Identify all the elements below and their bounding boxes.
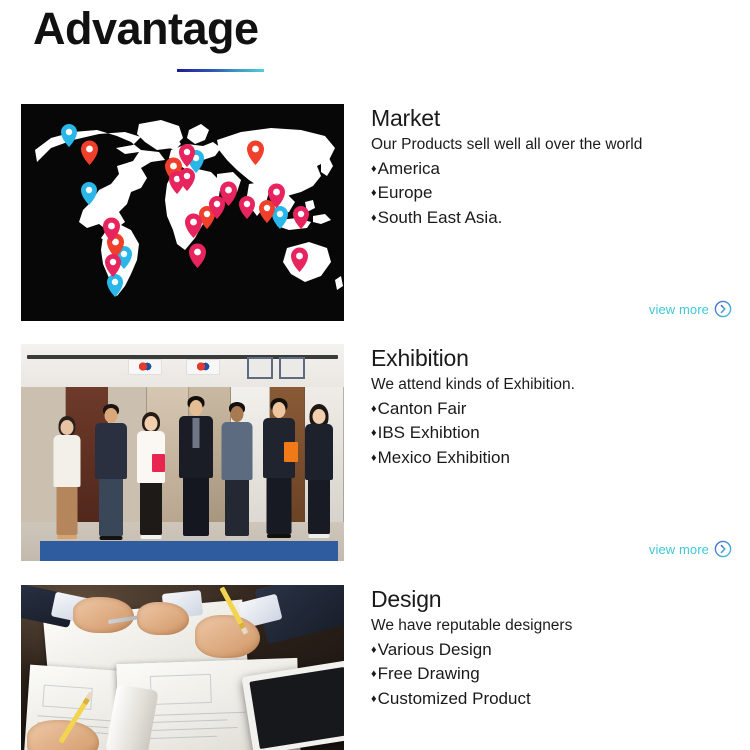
person [92,404,130,544]
list-item-label: America [378,157,440,181]
section-design: Design We have reputable designers ♦ Var… [0,585,750,750]
market-feature-list: ♦ America ♦ Europe ♦ South East Asia. [371,157,743,229]
hand [73,597,134,633]
list-item-label: IBS Exhibtion [378,421,480,445]
list-item: ♦ America [371,157,743,181]
advantage-page: Advantage [0,0,750,750]
diamond-bullet-icon: ♦ [371,694,377,705]
person [302,404,336,544]
person [260,398,298,544]
hand [195,615,260,658]
list-item: ♦ Free Drawing [371,662,743,686]
booth-logo-icon [186,359,220,375]
title-accent-rule [177,69,264,72]
view-more-link-market[interactable]: view more [649,300,732,318]
booth-logo-icon [128,359,162,375]
list-item: ♦ Various Design [371,638,743,662]
exhibition-title: Exhibition [371,344,743,372]
diamond-bullet-icon: ♦ [371,213,377,224]
list-item-label: Canton Fair [378,397,467,421]
booth-frame-display [247,357,273,379]
diamond-bullet-icon: ♦ [371,453,377,464]
person [134,412,168,544]
design-photo-canvas [21,585,344,750]
diamond-bullet-icon: ♦ [371,428,377,439]
view-more-label: view more [649,542,709,557]
list-item-label: Europe [378,181,433,205]
market-text-column: Market Our Products sell well all over t… [371,104,743,230]
list-item-label: South East Asia. [378,206,503,230]
diamond-bullet-icon: ♦ [371,404,377,415]
booth-frame-display [279,357,305,379]
exhibition-subtitle: We attend kinds of Exhibition. [371,373,743,396]
chevron-right-circle-icon [714,300,732,318]
section-exhibition: Exhibition We attend kinds of Exhibition… [0,344,750,582]
person [176,396,216,544]
exhibition-feature-list: ♦ Canton Fair ♦ IBS Exhibtion ♦ Mexico E… [371,397,743,469]
design-text-column: Design We have reputable designers ♦ Var… [371,585,743,711]
design-photo [21,585,344,750]
person [218,402,256,544]
list-item-label: Free Drawing [378,662,480,686]
world-map-canvas [21,104,344,321]
hand [137,602,189,635]
list-item-label: Customized Product [378,687,531,711]
exhibition-text-column: Exhibition We attend kinds of Exhibition… [371,344,743,470]
list-item: ♦ Europe [371,181,743,205]
list-item: ♦ IBS Exhibtion [371,421,743,445]
booth-carpet [40,541,337,561]
exhibition-photo-canvas [21,344,344,561]
diamond-bullet-icon: ♦ [371,645,377,656]
chevron-right-circle-icon [714,540,732,558]
list-item-label: Mexico Exhibition [378,446,510,470]
view-more-label: view more [649,302,709,317]
list-item: ♦ Canton Fair [371,397,743,421]
page-title: Advantage [33,2,259,55]
market-subtitle: Our Products sell well all over the worl… [371,133,743,156]
list-item: ♦ Customized Product [371,687,743,711]
design-feature-list: ♦ Various Design ♦ Free Drawing ♦ Custom… [371,638,743,710]
diamond-bullet-icon: ♦ [371,669,377,680]
section-market: Market Our Products sell well all over t… [0,104,750,342]
world-map-image [21,104,344,321]
list-item: ♦ Mexico Exhibition [371,446,743,470]
market-title: Market [371,104,743,132]
exhibition-photo [21,344,344,561]
diamond-bullet-icon: ♦ [371,164,377,175]
view-more-link-exhibition[interactable]: view more [649,540,732,558]
diamond-bullet-icon: ♦ [371,188,377,199]
person [50,416,84,544]
list-item: ♦ South East Asia. [371,206,743,230]
design-title: Design [371,585,743,613]
list-item-label: Various Design [378,638,492,662]
design-subtitle: We have reputable designers [371,614,743,637]
